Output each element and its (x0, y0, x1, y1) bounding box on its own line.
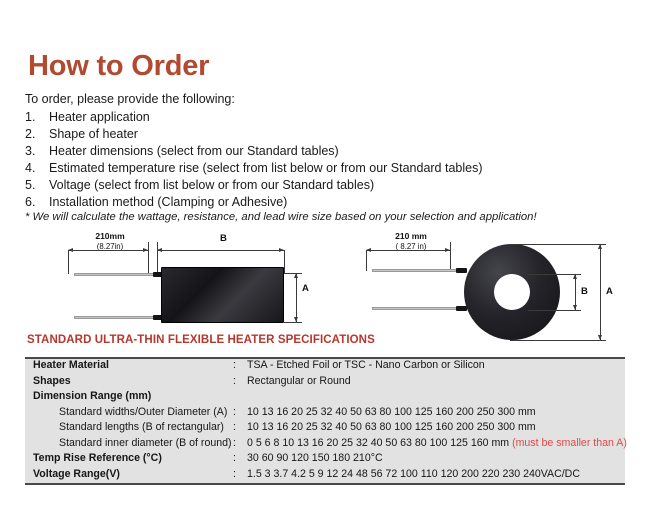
heater-diagrams: 210mm (8.27in) B A (0, 228, 650, 340)
list-item-number: 6. (25, 194, 49, 211)
lead-dimension-line (68, 250, 148, 251)
row-value: 10 13 16 20 25 32 40 50 63 80 100 125 16… (247, 406, 625, 418)
lead-length-dimension-label: 210mm (8.27in) (70, 232, 150, 251)
order-steps-list: 1. Heater application 2. Shape of heater… (25, 109, 625, 211)
list-item-number: 4. (25, 160, 49, 177)
lead-extension-line-left (366, 250, 367, 271)
list-item: 1. Heater application (25, 109, 625, 126)
table-row: Dimension Range (mm) (25, 390, 625, 406)
list-item-label: Voltage (select from list below or from … (49, 177, 625, 194)
height-extension-line-bottom (284, 322, 302, 323)
row-value-warning: (must be smaller than A) (512, 437, 627, 449)
body-width-dimension-label: B (220, 233, 227, 244)
lead-wire-top-connector (456, 268, 467, 273)
row-colon: : (233, 468, 247, 480)
rectangular-heater-body (161, 267, 284, 323)
specifications-table: Heater Material : TSA - Etched Foil or T… (25, 357, 625, 485)
round-heater-inner-hole (494, 274, 530, 310)
lead-wire-top (74, 273, 164, 276)
row-colon: : (233, 375, 247, 387)
table-row: Standard inner diameter (B of round) : 0… (25, 437, 625, 453)
row-value: 1.5 3 3.7 4.2 5 9 12 24 48 56 72 100 110… (247, 468, 625, 480)
row-value-text: 0 5 6 8 10 13 16 20 25 32 40 50 63 80 10… (247, 437, 512, 449)
lead-extension-line-left (68, 250, 69, 274)
row-value: Rectangular or Round (247, 375, 625, 387)
table-row: Standard widths/Outer Diameter (A) : 10 … (25, 406, 625, 422)
row-colon: : (233, 406, 247, 418)
lead-extension-line-right (148, 242, 149, 274)
row-label: Shapes (25, 375, 233, 387)
intro-text: To order, please provide the following: (25, 92, 235, 106)
row-colon: : (233, 437, 247, 449)
table-row: Voltage Range(V) : 1.5 3 3.7 4.2 5 9 12 … (25, 468, 625, 484)
height-extension-line-top (284, 273, 302, 274)
outer-diameter-dimension-line (600, 244, 601, 340)
table-row: Standard lengths (B of rectangular) : 10… (25, 421, 625, 437)
lead-length-mm: 210mm (95, 231, 124, 241)
list-item: 5. Voltage (select from list below or fr… (25, 177, 625, 194)
outer-diameter-dimension-label: A (606, 286, 613, 297)
list-item-label: Installation method (Clamping or Adhesiv… (49, 194, 625, 211)
list-item-number: 1. (25, 109, 49, 126)
list-item: 2. Shape of heater (25, 126, 625, 143)
list-item-number: 3. (25, 143, 49, 160)
height-dimension-line (296, 273, 297, 322)
row-value: 30 60 90 120 150 180 210°C (247, 452, 625, 464)
page-title: How to Order (28, 52, 209, 81)
lead-extension-line-right (450, 242, 451, 271)
outer-extension-line-bottom (510, 340, 606, 341)
row-colon: : (233, 359, 247, 371)
round-heater-diagram: 210 mm ( 8.27 in) B A (360, 228, 650, 340)
footnote-text: * We will calculate the wattage, resista… (25, 211, 537, 223)
inner-extension-line-bottom (528, 310, 581, 311)
order-page: How to Order To order, please provide th… (0, 0, 650, 523)
row-label: Standard widths/Outer Diameter (A) (25, 406, 233, 418)
row-label: Dimension Range (mm) (25, 390, 233, 402)
spec-section-title: STANDARD ULTRA-THIN FLEXIBLE HEATER SPEC… (27, 334, 375, 346)
row-label: Standard lengths (B of rectangular) (25, 421, 233, 433)
lead-wire-top (372, 269, 466, 272)
inner-diameter-dimension-label: B (581, 286, 588, 297)
row-value: 10 13 16 20 25 32 40 50 63 80 100 125 16… (247, 421, 625, 433)
row-label: Heater Material (25, 359, 233, 371)
width-dimension-line (157, 250, 284, 251)
width-extension-line-left (157, 242, 158, 274)
row-colon: : (233, 452, 247, 464)
width-extension-line-right (284, 250, 285, 274)
inner-extension-line-top (528, 274, 581, 275)
list-item-label: Heater dimensions (select from our Stand… (49, 143, 625, 160)
list-item-number: 2. (25, 126, 49, 143)
lead-length-mm: 210 mm (395, 231, 427, 241)
body-height-dimension-label: A (302, 283, 309, 294)
list-item: 4. Estimated temperature rise (select fr… (25, 160, 625, 177)
table-row: Heater Material : TSA - Etched Foil or T… (25, 359, 625, 375)
list-item-label: Estimated temperature rise (select from … (49, 160, 625, 177)
list-item-number: 5. (25, 177, 49, 194)
row-colon: : (233, 421, 247, 433)
row-value: 0 5 6 8 10 13 16 20 25 32 40 50 63 80 10… (247, 437, 627, 449)
lead-length-dimension-label: 210 mm ( 8.27 in) (368, 232, 454, 251)
row-label: Standard inner diameter (B of round) (25, 437, 233, 449)
rectangular-heater-diagram: 210mm (8.27in) B A (60, 228, 350, 340)
list-item: 3. Heater dimensions (select from our St… (25, 143, 625, 160)
list-item: 6. Installation method (Clamping or Adhe… (25, 194, 625, 211)
row-value: TSA - Etched Foil or TSC - Nano Carbon o… (247, 359, 625, 371)
lead-wire-bottom (372, 307, 466, 310)
row-label: Voltage Range(V) (25, 468, 233, 480)
lead-dimension-line (366, 250, 450, 251)
list-item-label: Shape of heater (49, 126, 625, 143)
outer-extension-line-top (510, 244, 606, 245)
table-row: Shapes : Rectangular or Round (25, 375, 625, 391)
lead-wire-bottom (74, 316, 164, 319)
list-item-label: Heater application (49, 109, 625, 126)
row-label: Temp Rise Reference (°C) (25, 452, 233, 464)
table-row: Temp Rise Reference (°C) : 30 60 90 120 … (25, 452, 625, 468)
